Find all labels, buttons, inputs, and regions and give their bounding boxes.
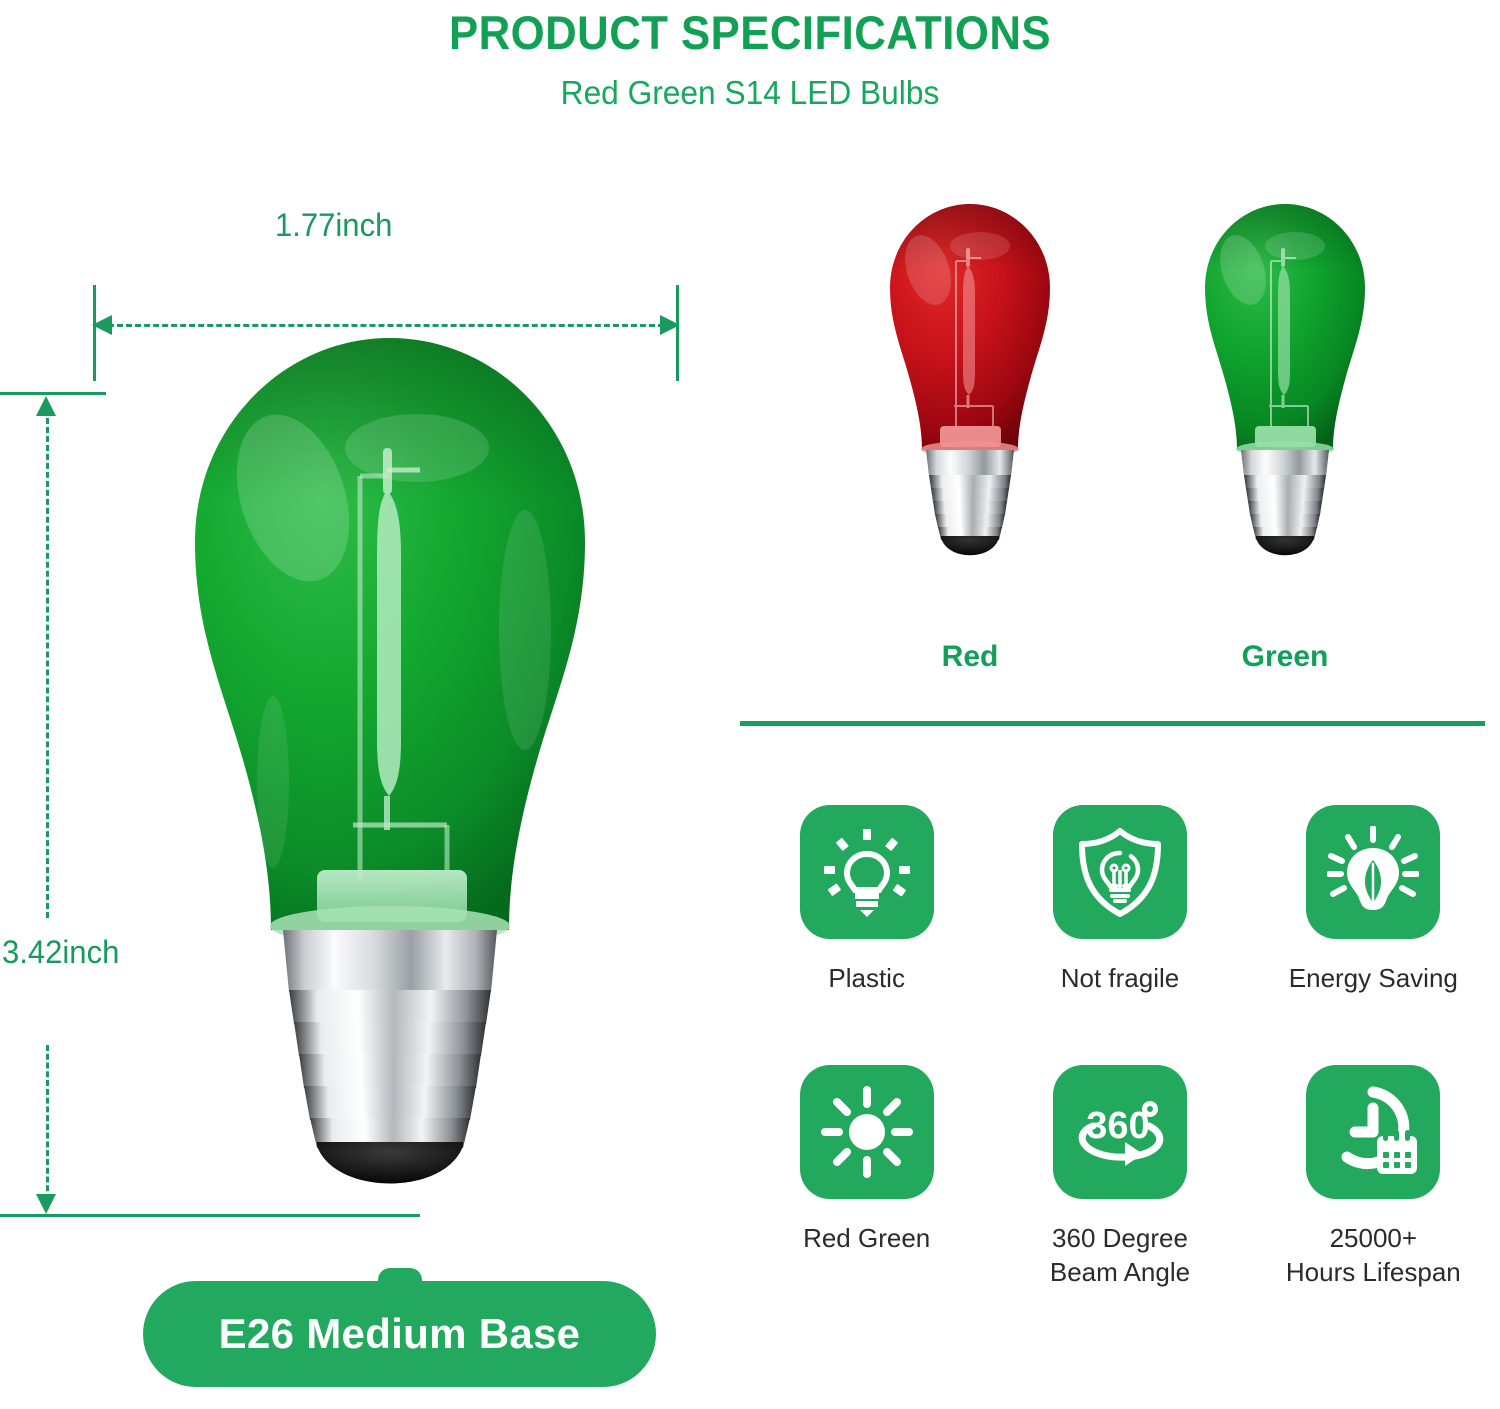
arrow-left-icon	[92, 315, 112, 335]
page-title: PRODUCT SPECIFICATIONS	[53, 0, 1448, 62]
badge-label: E26 Medium Base	[219, 1310, 581, 1358]
arrow-down-icon	[36, 1194, 56, 1214]
header: PRODUCT SPECIFICATIONS Red Green S14 LED…	[0, 0, 1500, 116]
variant-bulb-green	[1195, 200, 1375, 570]
variant-label-green: Green	[1195, 640, 1375, 674]
clock-calendar-icon	[1306, 1065, 1440, 1199]
e26-screw-base	[283, 930, 497, 1184]
shield-bulb-icon	[1053, 805, 1187, 939]
svg-text:360: 360	[1086, 1105, 1149, 1147]
height-dimension-line-upper	[46, 418, 49, 918]
main-product-image-green-bulb	[165, 330, 615, 1220]
page-subtitle: Red Green S14 LED Bulbs	[30, 70, 1470, 116]
variant-bulb-red	[880, 200, 1060, 570]
feature-plastic: Plastic	[740, 805, 993, 1065]
arrow-right-icon	[660, 315, 680, 335]
feature-label: Red Green	[803, 1221, 930, 1255]
glowing-bulb-icon	[800, 805, 934, 939]
brightness-sun-icon	[800, 1065, 934, 1199]
feature-label: 360 Degree Beam Angle	[1050, 1221, 1190, 1289]
arrow-up-icon	[36, 396, 56, 416]
feature-red-green: Red Green	[740, 1065, 993, 1365]
feature-label: Energy Saving	[1289, 961, 1458, 995]
feature-label: 25000+ Hours Lifespan	[1286, 1221, 1461, 1289]
badge-notch	[378, 1268, 422, 1290]
feature-grid: Plastic	[740, 805, 1500, 1365]
e26-base-badge: E26 Medium Base	[143, 1281, 656, 1387]
variant-label-red: Red	[880, 640, 1060, 674]
leaf-bulb-icon	[1306, 805, 1440, 939]
height-dimension-line-lower	[46, 1045, 49, 1200]
feature-label: Plastic	[828, 961, 905, 995]
section-divider	[740, 721, 1485, 726]
height-dimension-label: 3.42inch	[2, 933, 119, 971]
feature-label: Not fragile	[1061, 961, 1180, 995]
width-dimension-line	[108, 324, 664, 327]
feature-lifespan: 25000+ Hours Lifespan	[1247, 1065, 1500, 1365]
360-rotation-icon: 360	[1053, 1065, 1187, 1199]
width-dimension-label: 1.77inch	[275, 206, 392, 244]
height-extension-line-top	[0, 392, 106, 395]
feature-not-fragile: Not fragile	[993, 805, 1246, 1065]
feature-energy-saving: Energy Saving	[1247, 805, 1500, 1065]
product-specification-infographic: PRODUCT SPECIFICATIONS Red Green S14 LED…	[0, 0, 1500, 1409]
feature-360-beam-angle: 360 360 Degree Beam Angle	[993, 1065, 1246, 1365]
